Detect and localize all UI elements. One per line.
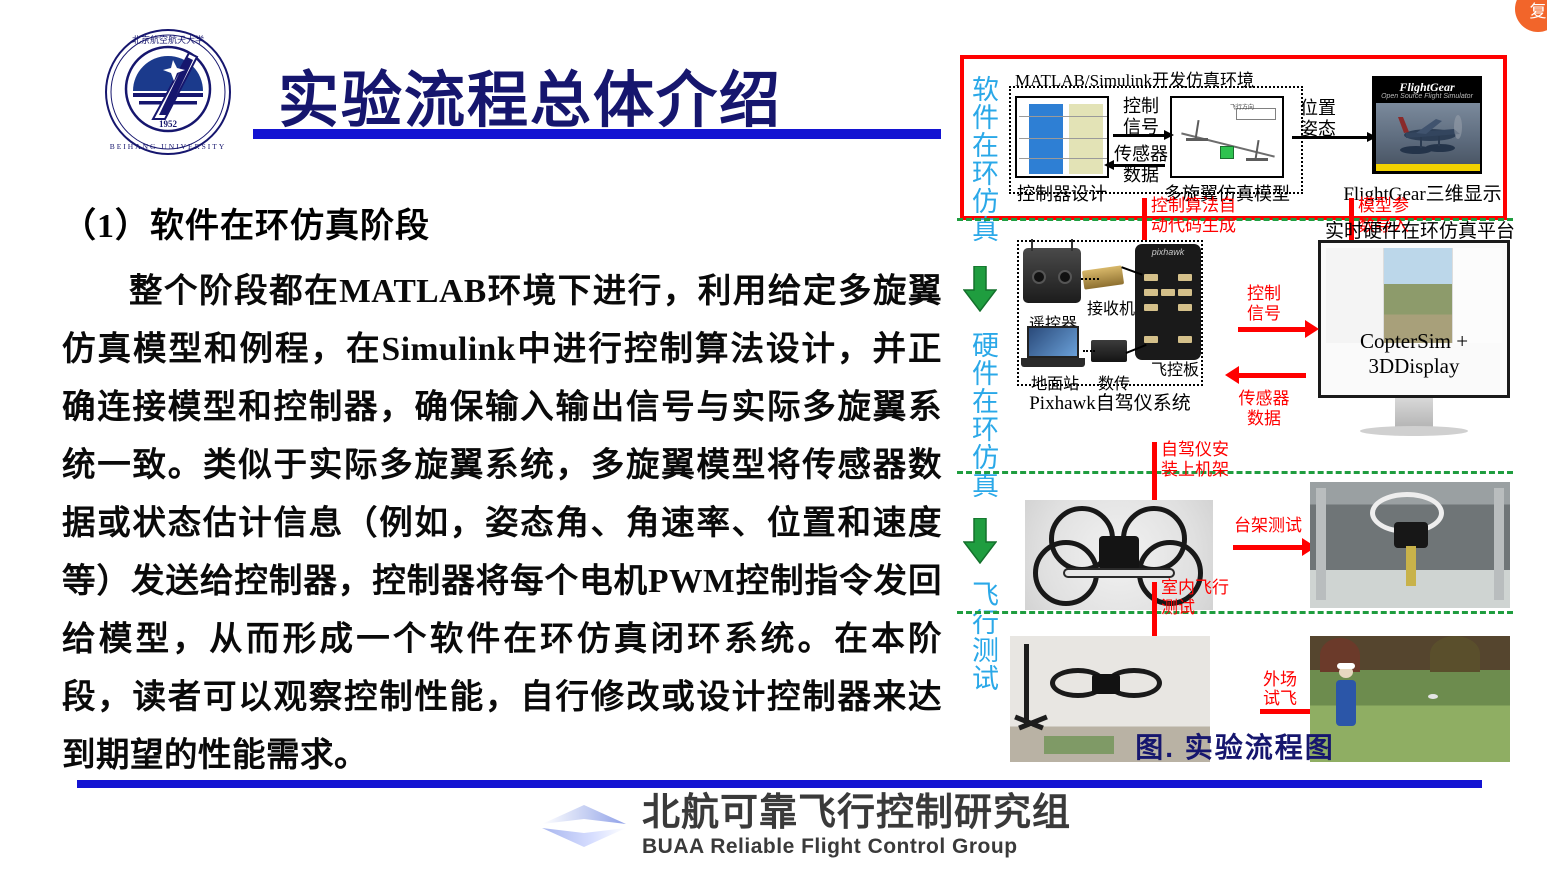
hil-platform-caption: 实时硬件在环仿真平台 [1325,216,1515,243]
flight-control-board-label: 飞控板 [1151,356,1199,380]
title-underline [253,129,941,139]
controller-design-caption: 控制器设计 [1009,180,1115,206]
section-paragraph: 整个阶段都在MATLAB环境下进行，利用给定多旋翼仿真模型和例程，在Simuli… [62,263,942,785]
arrow-indoor-flight-test [1152,582,1157,644]
arrow-hil-sensor-data [1238,373,1306,378]
bench-test-label: 台架测试 [1231,516,1305,536]
hil-sensor-data-label: 传感器 数据 [1233,389,1295,429]
figure-caption: 图. 实验流程图 [955,726,1515,766]
pixhawk-brand-text: pixhawk [1135,247,1201,257]
svg-text:BEIHANG UNIVERSITY: BEIHANG UNIVERSITY [110,142,227,151]
rc-stick-left [1032,270,1046,284]
position-attitude-label: 位置 姿态 [1296,98,1340,140]
connector-gcs-telemetry [1083,350,1095,352]
flightgear-url-bar [1376,164,1480,171]
footer-group-name-cn: 北航可靠飞行控制研究组 [642,793,1071,833]
content-column: （1）软件在环仿真阶段 整个阶段都在MATLAB环境下进行，利用给定多旋翼仿真模… [62,198,942,785]
control-signal-label: 控制 信号 [1115,96,1167,138]
pixhawk-board-photo: pixhawk [1135,244,1201,360]
antenna-left [1031,239,1033,251]
label-line-2: 装上机架 [1161,460,1261,480]
label-line-1: 模型参 [1358,196,1468,216]
label-line-1: 传感器 [1113,144,1169,165]
label-line-1: 控制算法自 [1151,196,1271,216]
label-line-2: 数据 [1113,165,1169,186]
stage-label-flight-test: 飞行测试 [962,576,998,696]
label-line-1: 室内飞行 [1161,578,1261,598]
coptersim-caption: CopterSim + 3DDisplay [1321,329,1507,379]
laptop-base [1021,358,1085,367]
telemetry-radio-photo [1091,340,1127,362]
arrow-controller-to-model [1113,134,1165,137]
svg-text:北京航空航天大学: 北京航空航天大学 [132,34,204,45]
laptop-screen [1027,326,1079,358]
ground-station-laptop-photo [1021,326,1085,370]
stage-down-arrow-icon [963,518,997,564]
pixhawk-system-caption: Pixhawk自驾仪系统 [1007,388,1213,415]
stage-label-hardware-in-loop: 硬件在环仿真 [962,320,998,510]
monitor-stand [1395,398,1433,428]
app-badge-icon[interactable]: 复 [1515,0,1547,32]
buaa-university-logo: 1952 北京航空航天大学 BEIHANG UNIVERSITY [103,27,233,157]
label-line-2: 动代码生成 [1151,216,1271,236]
label-line-2: 测试 [1161,598,1261,618]
label-line-1: 控制 [1235,284,1293,304]
multicopter-model-block: 飞行方向 [1170,96,1284,178]
simulink-block-olive [1069,104,1103,174]
label-line-1: 外场 [1255,670,1305,689]
hil-control-signal-label: 控制 信号 [1235,284,1293,324]
label-line-2: 试飞 [1255,689,1305,708]
flightgear-subtitle: Open Source Flight Simulator [1373,93,1481,100]
stage-down-arrow-icon [963,266,997,312]
arrow-bench-test [1233,545,1303,550]
rc-stick-right [1058,270,1072,284]
antenna-right [1071,239,1073,251]
label-line-1: 位置 [1296,98,1340,119]
arrow-model-to-flightgear [1292,136,1368,139]
controller-design-block [1015,96,1109,178]
slide-root: 复 1952 北京航空航天大学 BEIHANG UNIVERSITY 实验流程总… [0,0,1547,871]
coptersim-monitor: CopterSim + 3DDisplay [1318,240,1510,398]
flightgear-screenshot: FlightGear Open Source Flight Simulator [1372,76,1482,174]
rc-transmitter-photo [1023,248,1081,303]
receiver-label: 接收机 [1087,295,1135,319]
footer-brand: 北航可靠飞行控制研究组 BUAA Reliable Flight Control… [540,793,1071,859]
group-diamond-logo-icon [540,801,628,851]
footer-group-name-en: BUAA Reliable Flight Control Group [642,835,1071,859]
section-heading: （1）软件在环仿真阶段 [62,198,942,247]
connector-rc-rx [1081,278,1099,280]
experiment-flow-diagram: 软件在环仿真 硬件在环仿真 飞行测试 MATLAB/Simulink开发仿真环境… [955,48,1515,728]
label-line-1: 控制 [1115,96,1167,117]
flightgear-aircraft-render [1376,103,1480,165]
arrow-hil-control-signal [1238,327,1306,332]
simulink-block-blue [1029,104,1063,174]
label-line-1: 传感器 [1233,389,1295,409]
arrow-model-to-controller [1113,164,1165,167]
mount-autopilot-label: 自驾仪安 装上机架 [1161,440,1261,480]
footer-divider [77,780,1482,788]
label-line-1: 自驾仪安 [1161,440,1261,460]
airframe-center-body [1220,146,1234,159]
bench-test-photo [1310,482,1510,608]
monitor-base [1360,426,1468,436]
svg-text:1952: 1952 [159,119,178,129]
field-flight-test-label: 外场 试飞 [1255,670,1305,708]
page-title: 实验流程总体介绍 [278,50,782,139]
code-generation-label: 控制算法自 动代码生成 [1151,196,1271,236]
flight-direction-label: 飞行方向 [1230,102,1254,111]
label-line-2: 数据 [1233,409,1295,429]
indoor-flight-test-label: 室内飞行 测试 [1161,578,1261,618]
stage-label-software-in-loop: 软件在环仿真 [962,64,998,254]
label-line-2: 信号 [1235,304,1293,324]
